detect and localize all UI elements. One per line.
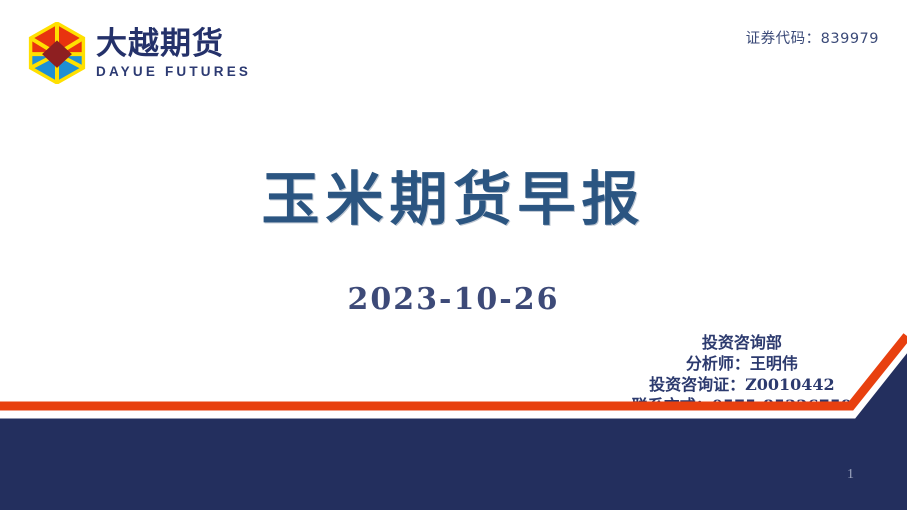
report-date: 2023-10-26 bbox=[0, 282, 907, 317]
company-logo: 大越期货 DAYUE FUTURES bbox=[28, 22, 251, 84]
logo-english-name: DAYUE FUTURES bbox=[96, 65, 251, 79]
hexagon-cube-logo-icon bbox=[28, 22, 86, 84]
footer-decorative-band bbox=[0, 330, 907, 510]
slide-root: 大越期货 DAYUE FUTURES 证券代码：839979 玉米期货早报 20… bbox=[0, 0, 907, 510]
orange-accent-line bbox=[0, 336, 907, 406]
navy-bar-shape bbox=[0, 352, 907, 510]
logo-chinese-name: 大越期货 bbox=[96, 28, 251, 61]
logo-wordmark: 大越期货 DAYUE FUTURES bbox=[96, 28, 251, 78]
security-code: 证券代码：839979 bbox=[746, 27, 879, 48]
page-title: 玉米期货早报 bbox=[0, 152, 907, 236]
page-number: 1 bbox=[847, 467, 854, 483]
